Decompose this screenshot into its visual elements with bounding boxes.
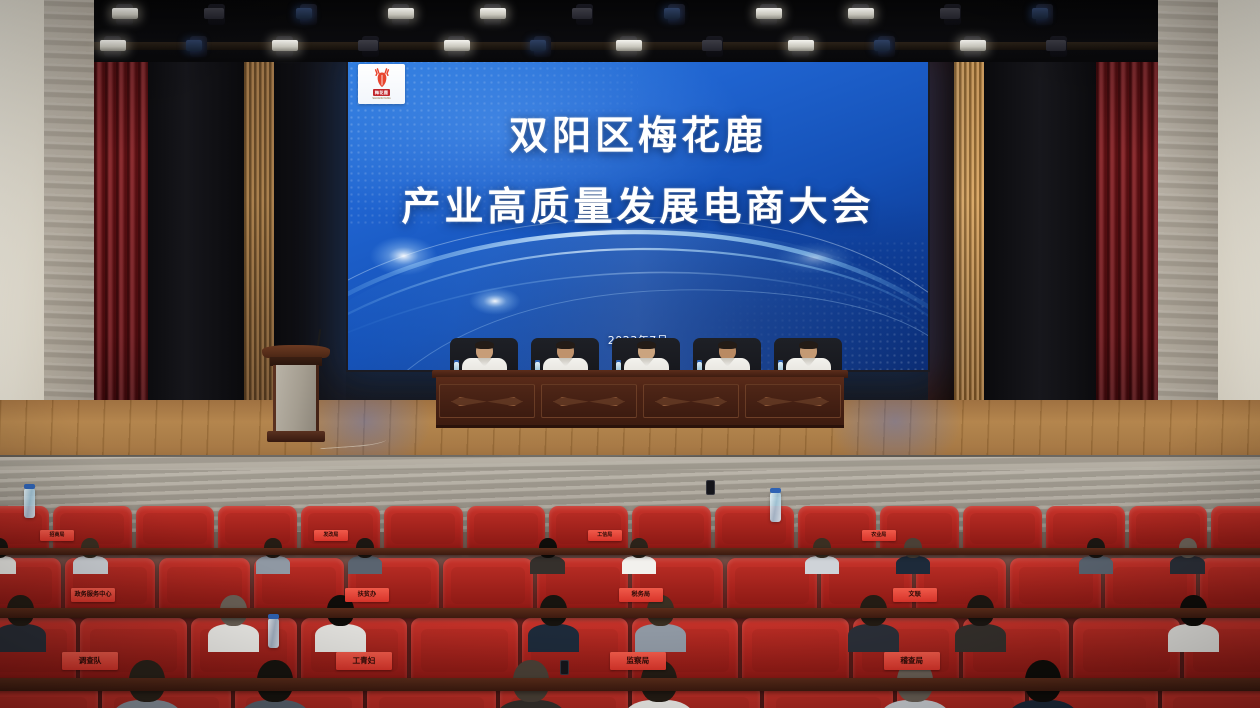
stage-light-fixture (788, 40, 814, 51)
stage-light-fixture (756, 8, 782, 19)
audience-seat[interactable] (715, 506, 794, 552)
audience-name-placard: 发改局 (314, 530, 348, 541)
stage-light-fixture (1046, 40, 1066, 51)
logo-brand-text: 梅花鹿 (373, 89, 390, 95)
audience-seat[interactable] (549, 506, 628, 552)
audience-member-shoulders (530, 556, 564, 574)
audience-seat[interactable] (467, 506, 546, 552)
conference-logo: 梅花鹿 SHUANGYANG (358, 64, 405, 104)
audience-name-placard: 文联 (893, 588, 937, 602)
table-diamond-motif (553, 397, 624, 406)
stage-light-fixture (664, 8, 680, 19)
lighting-truss (94, 0, 1158, 62)
audience-seat[interactable] (443, 558, 534, 614)
table-diamond-motif (451, 397, 522, 406)
audience-member-shoulders (0, 624, 46, 652)
stage-light-fixture (572, 8, 592, 19)
audience-member-shoulders (315, 624, 366, 652)
audience-member-shoulders (1170, 556, 1204, 574)
stage-light-fixture (272, 40, 298, 51)
audience-seat[interactable] (1073, 618, 1179, 684)
water-bottle (24, 488, 35, 518)
audience-member-shoulders (805, 556, 839, 574)
audience-member-shoulders (528, 624, 579, 652)
stage-light-fixture (1032, 8, 1048, 19)
water-bottle (268, 618, 279, 648)
deer-antler-icon (371, 68, 393, 88)
official-hair (475, 341, 494, 349)
audience-seating-area: 招商局发改局工信局农业局政务服务中心扶贫办税务局文联调查队工青妇监察局稽查局财务… (0, 470, 1260, 708)
curtain-red-right (1096, 0, 1158, 446)
mobile-phone (706, 480, 715, 495)
stage-light-fixture (616, 40, 642, 51)
curtain-red-left (94, 0, 148, 446)
audience-member-shoulders (896, 556, 930, 574)
mobile-phone (560, 660, 569, 675)
audience-seat[interactable] (727, 558, 818, 614)
audience-desk-ledge (0, 608, 1260, 618)
audience-member-shoulders (73, 556, 107, 574)
audience-seat[interactable] (411, 618, 517, 684)
audience-seat[interactable] (963, 506, 1042, 552)
official-hair (718, 341, 737, 349)
audience-member-shoulders (848, 624, 899, 652)
stage-light-fixture (112, 8, 138, 19)
stage-light-fixture (702, 40, 722, 51)
stage-light-fixture (848, 8, 874, 19)
backstage-dark-right (928, 0, 954, 446)
podium-body (273, 365, 319, 433)
stage-light-fixture (100, 40, 126, 51)
audience-member-shoulders (1168, 624, 1219, 652)
stage-light-fixture (874, 40, 890, 51)
audience-member-shoulders (635, 624, 686, 652)
audience-name-placard: 工信局 (588, 530, 622, 541)
audience-desk-ledge (0, 548, 1260, 555)
audience-seat[interactable] (1046, 506, 1125, 552)
curtain-black-right (984, 0, 1096, 446)
podium-base (267, 431, 325, 442)
water-bottle (770, 492, 781, 522)
stage-light-fixture (388, 8, 414, 19)
table-front-panels (436, 377, 844, 428)
speaker-podium (262, 345, 330, 445)
audience-seat[interactable] (742, 618, 848, 684)
table-carved-panel (541, 384, 637, 418)
head-table (436, 370, 844, 428)
audience-name-placard: 税务局 (619, 588, 663, 602)
stage-light-fixture (296, 8, 312, 19)
logo-sub-text: SHUANGYANG (372, 97, 390, 100)
audience-seat[interactable] (218, 506, 297, 552)
audience-member-shoulders (955, 624, 1006, 652)
led-screen: 梅花鹿 SHUANGYANG 双阳区梅花鹿 产业高质量发展电商大会 2023年7… (346, 56, 930, 372)
stage-light-fixture (204, 8, 224, 19)
table-carved-panel (439, 384, 535, 418)
audience-seat[interactable] (1200, 558, 1260, 614)
table-diamond-motif (655, 397, 726, 406)
audience-seat[interactable] (384, 506, 463, 552)
stage-light-fixture (940, 8, 960, 19)
led-screen-surface: 梅花鹿 SHUANGYANG 双阳区梅花鹿 产业高质量发展电商大会 2023年7… (348, 58, 928, 370)
audience-seat[interactable] (136, 506, 215, 552)
stage-light-fixture (186, 40, 202, 51)
audience-name-placard: 招商局 (40, 530, 74, 541)
curtain-black-left (148, 0, 244, 446)
audience-seat[interactable] (798, 506, 877, 552)
official-hair (637, 341, 656, 349)
official-hair (556, 341, 575, 349)
audience-name-placard: 农业局 (862, 530, 896, 541)
curtain-gold-right (954, 0, 984, 446)
conference-hall-photo: 梅花鹿 SHUANGYANG 双阳区梅花鹿 产业高质量发展电商大会 2023年7… (0, 0, 1260, 708)
stage-light-fixture (960, 40, 986, 51)
stage-light-fixture (530, 40, 546, 51)
stage-light-fixture (480, 8, 506, 19)
audience-member-shoulders (1079, 556, 1113, 574)
audience-name-placard: 稽查局 (884, 652, 940, 670)
led-title-line-1: 双阳区梅花鹿 (378, 116, 898, 159)
official-hair (799, 341, 818, 349)
led-title-line-2: 产业高质量发展电商大会 (378, 187, 898, 230)
audience-name-placard: 工青妇 (336, 652, 392, 670)
audience-name-placard: 调查队 (62, 652, 118, 670)
led-title-block: 双阳区梅花鹿 产业高质量发展电商大会 (348, 116, 928, 230)
table-carved-panel (643, 384, 739, 418)
audience-seat-row (0, 618, 1260, 684)
stage-light-fixture (444, 40, 470, 51)
audience-member-shoulders (208, 624, 259, 652)
audience-member-shoulders (622, 556, 656, 574)
stage-light-fixture (358, 40, 378, 51)
table-carved-panel (745, 384, 841, 418)
audience-desk-ledge (0, 678, 1260, 691)
audience-name-placard: 扶贫办 (345, 588, 389, 602)
audience-member-shoulders (0, 556, 16, 574)
audience-member-shoulders (256, 556, 290, 574)
audience-name-placard: 监察局 (610, 652, 666, 670)
audience-name-placard: 政务服务中心 (71, 588, 115, 602)
table-diamond-motif (757, 397, 828, 406)
audience-member-shoulders (348, 556, 382, 574)
audience-seat[interactable] (1211, 506, 1260, 552)
